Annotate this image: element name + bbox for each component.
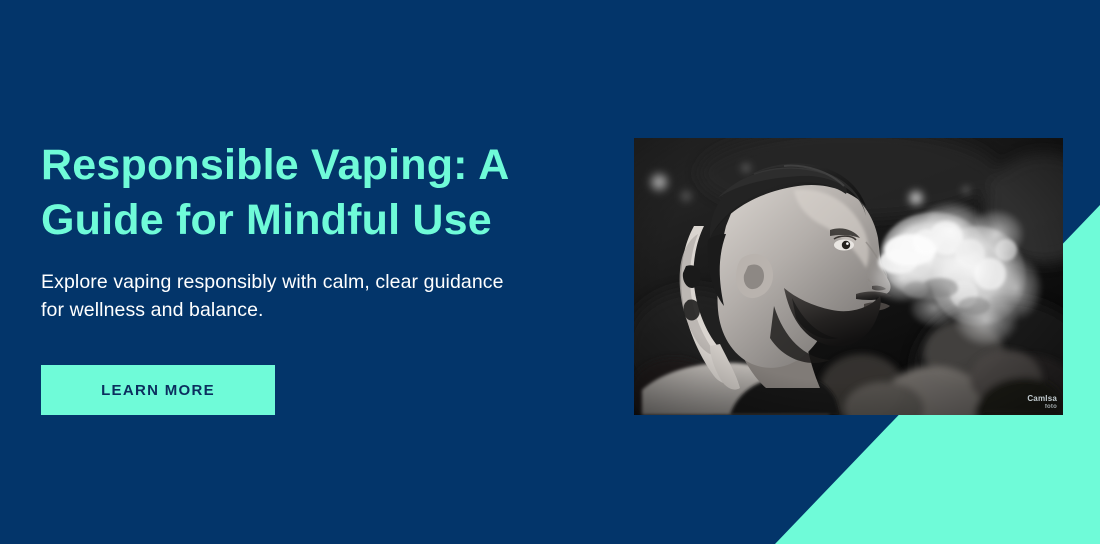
hero-photo: CamIsa foto bbox=[634, 138, 1063, 415]
learn-more-button[interactable]: LEARN MORE bbox=[41, 365, 275, 415]
hero-banner: Responsible Vaping: A Guide for Mindful … bbox=[0, 0, 1100, 544]
subtitle-text: Explore vaping responsibly with calm, cl… bbox=[41, 268, 601, 324]
page-title: Responsible Vaping: A Guide for Mindful … bbox=[41, 138, 601, 248]
text-column: Responsible Vaping: A Guide for Mindful … bbox=[41, 138, 601, 324]
